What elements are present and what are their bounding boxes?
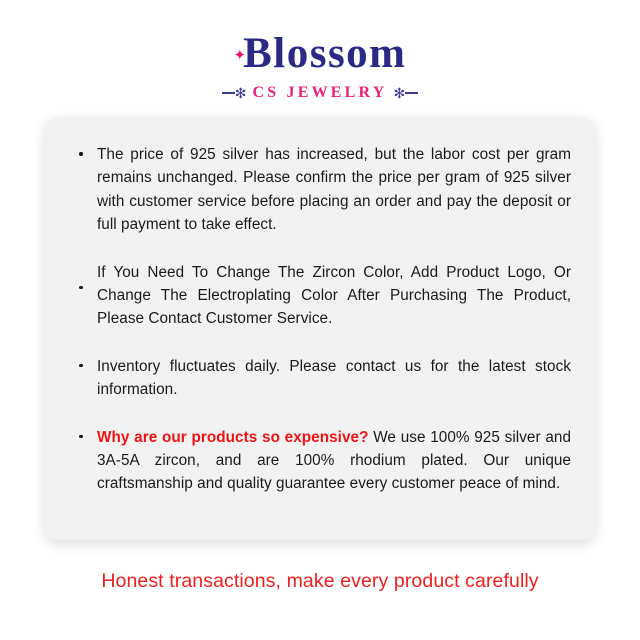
notice-text-inventory: Inventory fluctuates daily. Please conta… [97,358,571,398]
bullet-icon [79,435,83,439]
ornament-dash-right [405,92,418,94]
bullet-icon [79,286,83,290]
brand-tagline: CS JEWELRY [252,85,387,101]
list-item: Why are our products so expensive? We us… [73,426,571,496]
ornament-flake-left: ✻ [235,86,247,100]
notice-card: The price of 925 silver has increased, b… [45,117,595,540]
list-item: The price of 925 silver has increased, b… [73,143,571,237]
notice-text-price: The price of 925 silver has increased, b… [97,146,571,233]
notice-highlight-question: Why are our products so expensive? [97,429,369,446]
list-item: If You Need To Change The Zircon Color, … [73,261,571,331]
ornament-dash-left [222,92,235,94]
brand-wordmark-row: ✦ Blossom [0,30,640,76]
ornament-flake-right: ✻ [394,86,406,100]
snowflake-ornament-right-icon: ✻ [394,86,419,100]
footer-slogan: Honest transactions, make every product … [0,570,640,593]
brand-wordmark: Blossom [243,32,406,75]
bullet-icon [79,364,83,368]
brand-tagline-row: ✻ CS JEWELRY ✻ [0,85,640,101]
brand-header: ✦ Blossom ✻ CS JEWELRY ✻ [0,0,640,101]
snowflake-ornament-left-icon: ✻ [222,86,247,100]
list-item: Inventory fluctuates daily. Please conta… [73,355,571,402]
notice-text-customization: If You Need To Change The Zircon Color, … [97,264,571,328]
bullet-icon [79,152,83,156]
notice-list: The price of 925 silver has increased, b… [73,143,571,496]
